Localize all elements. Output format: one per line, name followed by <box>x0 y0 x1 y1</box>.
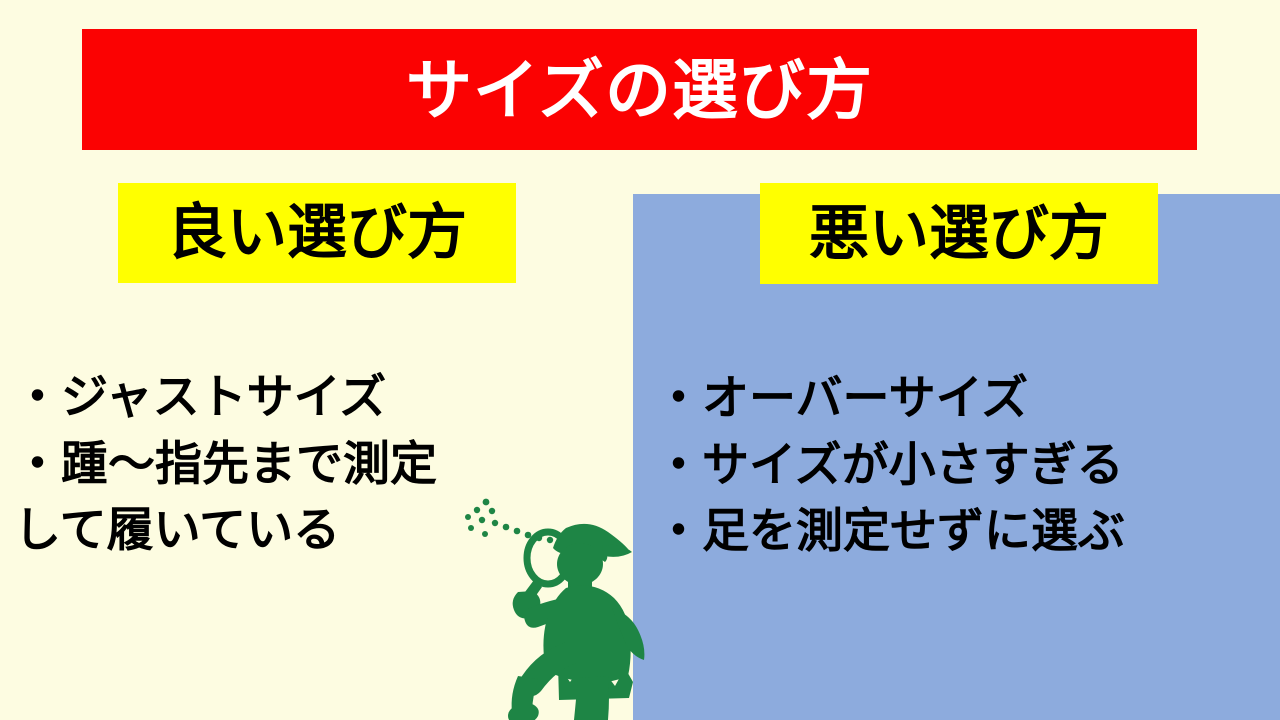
good-column-header-label: 良い選び方 <box>167 203 467 263</box>
bad-column-header: 悪い選び方 <box>760 183 1158 284</box>
title-banner: サイズの選び方 <box>82 29 1197 150</box>
page-title: サイズの選び方 <box>406 57 873 123</box>
list-item: ・足を測定せずに選ぶ <box>655 498 1270 565</box>
bad-column-bullet-list: ・オーバーサイズ ・サイズが小さすぎる ・足を測定せずに選ぶ <box>655 365 1270 565</box>
list-item: ・オーバーサイズ <box>655 365 1270 432</box>
list-item: ・ジャストサイズ <box>14 364 614 431</box>
good-column-header: 良い選び方 <box>118 183 516 283</box>
list-item: ・サイズが小さすぎる <box>655 432 1270 499</box>
slide-canvas: サイズの選び方 良い選び方 悪い選び方 ・ジャストサイズ ・踵〜指先まで測定 し… <box>0 0 1280 720</box>
detective-with-magnifying-glass-icon <box>462 492 648 720</box>
bad-column-header-label: 悪い選び方 <box>809 204 1109 264</box>
